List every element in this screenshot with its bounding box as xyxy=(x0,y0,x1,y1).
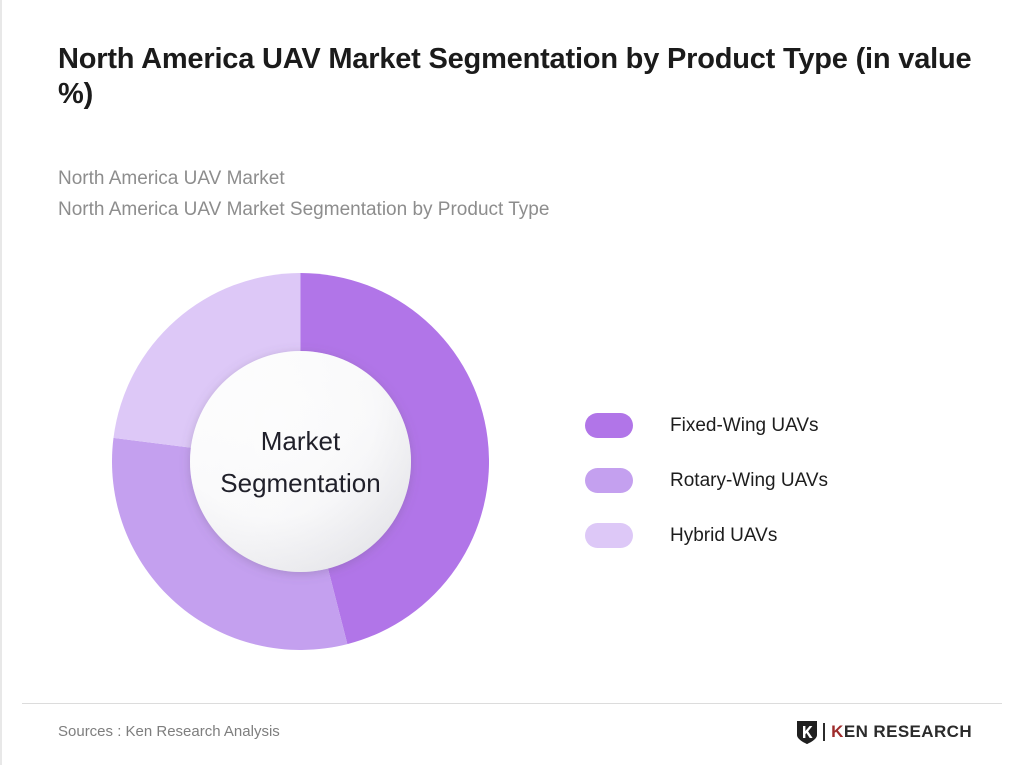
footer-divider xyxy=(22,703,1002,704)
chart-page: North America UAV Market Segmentation by… xyxy=(0,0,1020,765)
legend-swatch-icon xyxy=(585,468,633,493)
legend-label: Rotary-Wing UAVs xyxy=(670,470,828,492)
legend-item-hybrid[interactable]: Hybrid UAVs xyxy=(585,508,828,563)
legend-label: Hybrid UAVs xyxy=(670,525,777,547)
donut-chart: Market Segmentation xyxy=(112,273,489,650)
source-note: Sources : Ken Research Analysis xyxy=(58,723,280,740)
legend-item-rotary-wing[interactable]: Rotary-Wing UAVs xyxy=(585,453,828,508)
chart-area: Market Segmentation Fixed-Wing UAVs Rota… xyxy=(2,248,1020,688)
legend-label: Fixed-Wing UAVs xyxy=(670,415,819,437)
brand-name-accent: K xyxy=(831,722,844,741)
subtitle-block: North America UAV Market North America U… xyxy=(58,164,958,226)
brand-name-rest: EN RESEARCH xyxy=(844,722,972,741)
header: North America UAV Market Segmentation by… xyxy=(58,42,988,113)
brand-name: KEN RESEARCH xyxy=(831,722,972,742)
donut-hub-sheen xyxy=(190,351,411,572)
legend-swatch-icon xyxy=(585,523,633,548)
legend-swatch-icon xyxy=(585,413,633,438)
page-title: North America UAV Market Segmentation by… xyxy=(58,42,988,113)
subtitle-line-segmentation: North America UAV Market Segmentation by… xyxy=(58,195,958,226)
subtitle-line-market: North America UAV Market xyxy=(58,164,958,195)
brand-divider xyxy=(823,723,825,741)
legend: Fixed-Wing UAVs Rotary-Wing UAVs Hybrid … xyxy=(585,398,828,563)
donut-svg xyxy=(112,273,489,650)
shield-icon xyxy=(796,720,818,745)
legend-item-fixed-wing[interactable]: Fixed-Wing UAVs xyxy=(585,398,828,453)
brand-logo: KEN RESEARCH xyxy=(796,719,972,745)
